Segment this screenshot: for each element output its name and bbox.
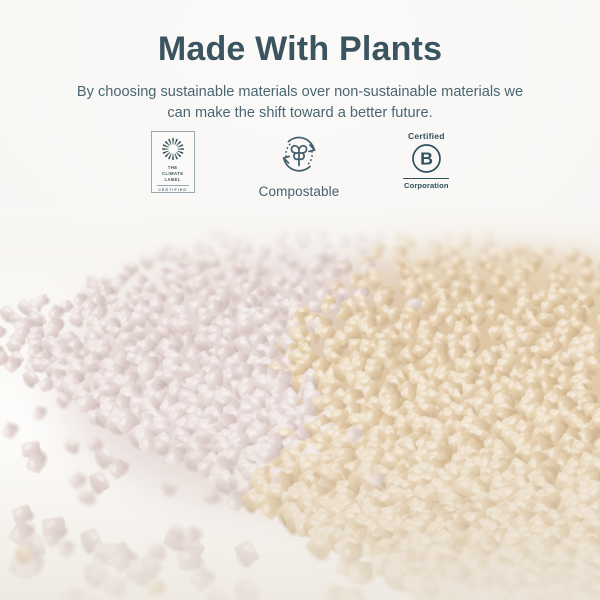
- bcorp-divider: [403, 178, 449, 179]
- sunburst-icon: [159, 136, 187, 162]
- svg-text:B: B: [420, 149, 433, 169]
- climate-line-3: LABEL: [162, 177, 184, 183]
- photo-top-fade: [0, 205, 600, 265]
- bcorp-certified-text: Certified: [408, 131, 445, 141]
- climate-certified-text: CERTIFIED: [158, 188, 187, 192]
- product-photo: [0, 205, 600, 600]
- compostable-label: Compostable: [259, 184, 340, 199]
- compostable-clover-arrows-icon: [273, 131, 325, 177]
- badge-climate-label[interactable]: THE CLIMATE LABEL CERTIFIED: [151, 131, 195, 193]
- badge-compostable[interactable]: Compostable: [259, 131, 340, 199]
- climate-divider: [157, 185, 189, 186]
- badge-b-corporation[interactable]: Certified B Corporation: [403, 131, 449, 190]
- climate-label-words: THE CLIMATE LABEL: [162, 165, 184, 182]
- page-title: Made With Plants: [0, 0, 600, 68]
- header: Made With Plants By choosing sustainable…: [0, 0, 600, 125]
- certification-badges: THE CLIMATE LABEL CERTIFIED: [0, 131, 600, 199]
- promo-image: Made With Plants By choosing sustainable…: [0, 0, 600, 600]
- b-corp-circle-icon: B: [411, 143, 442, 174]
- climate-label-frame: THE CLIMATE LABEL CERTIFIED: [151, 131, 195, 193]
- page-subtitle: By choosing sustainable materials over n…: [74, 82, 526, 125]
- climate-line-2: CLIMATE: [162, 171, 184, 177]
- bcorp-corporation-text: Corporation: [404, 181, 449, 190]
